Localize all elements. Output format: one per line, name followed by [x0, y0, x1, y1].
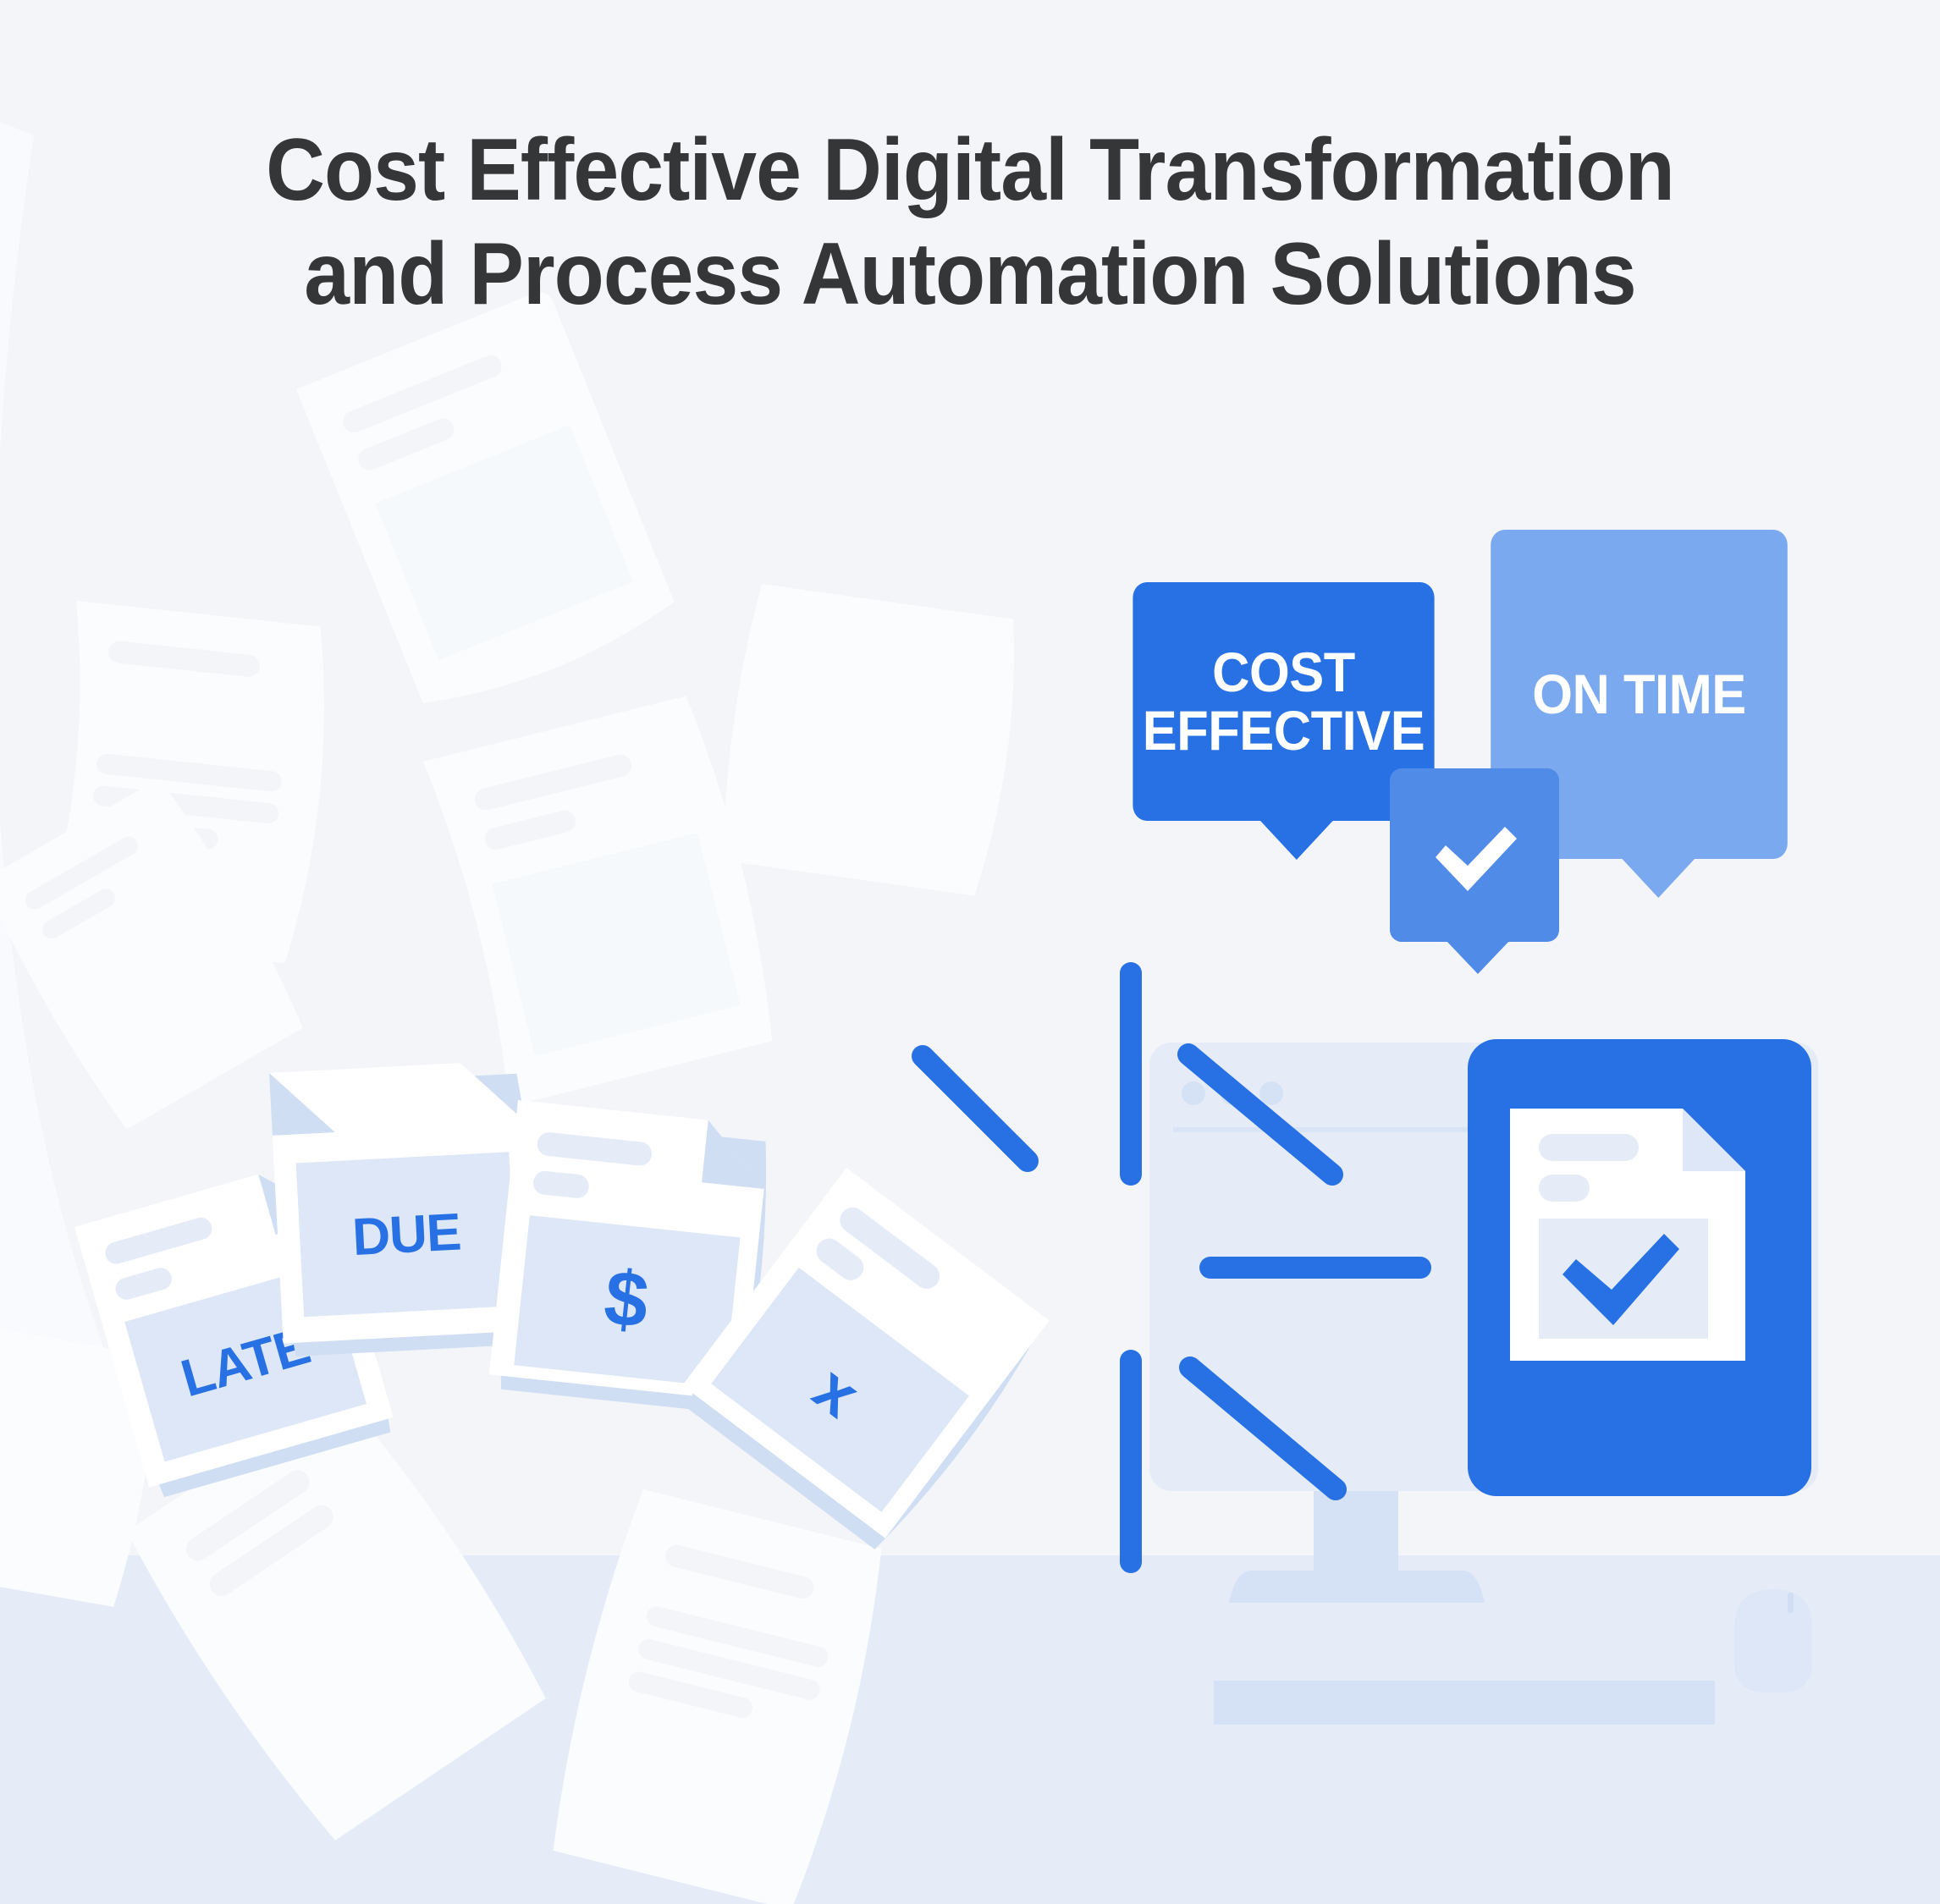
document-check-icon: [1510, 1109, 1745, 1361]
result-card: [1468, 1039, 1811, 1496]
cost-doc-label: $: [600, 1254, 653, 1345]
main-illustration: LATE DUE $ x: [0, 0, 1940, 1904]
bubble-cost-effective-tail: [1259, 819, 1334, 860]
monitor-stand-neck: [1314, 1491, 1398, 1584]
keyboard: [1214, 1681, 1715, 1725]
ray-up-left: [923, 1056, 1028, 1161]
due-doc-label: DUE: [351, 1202, 462, 1267]
bubble-on-time-label: ON TIME: [1532, 665, 1745, 724]
bubble-on-time-tail: [1621, 857, 1696, 898]
screen-dot-3: [1259, 1081, 1283, 1105]
bubble-check[interactable]: [1390, 768, 1559, 942]
illustration-canvas: Cost Effective Digital Transformation an…: [0, 0, 1940, 1904]
mouse: [1734, 1589, 1812, 1692]
bubble-cost-effective-label: COST EFFECTIVE: [1143, 643, 1425, 759]
check-icon: [1424, 805, 1525, 906]
monitor-stand-base: [1229, 1571, 1485, 1603]
screen-dot-1: [1182, 1081, 1205, 1105]
bubble-check-tail: [1446, 940, 1510, 974]
